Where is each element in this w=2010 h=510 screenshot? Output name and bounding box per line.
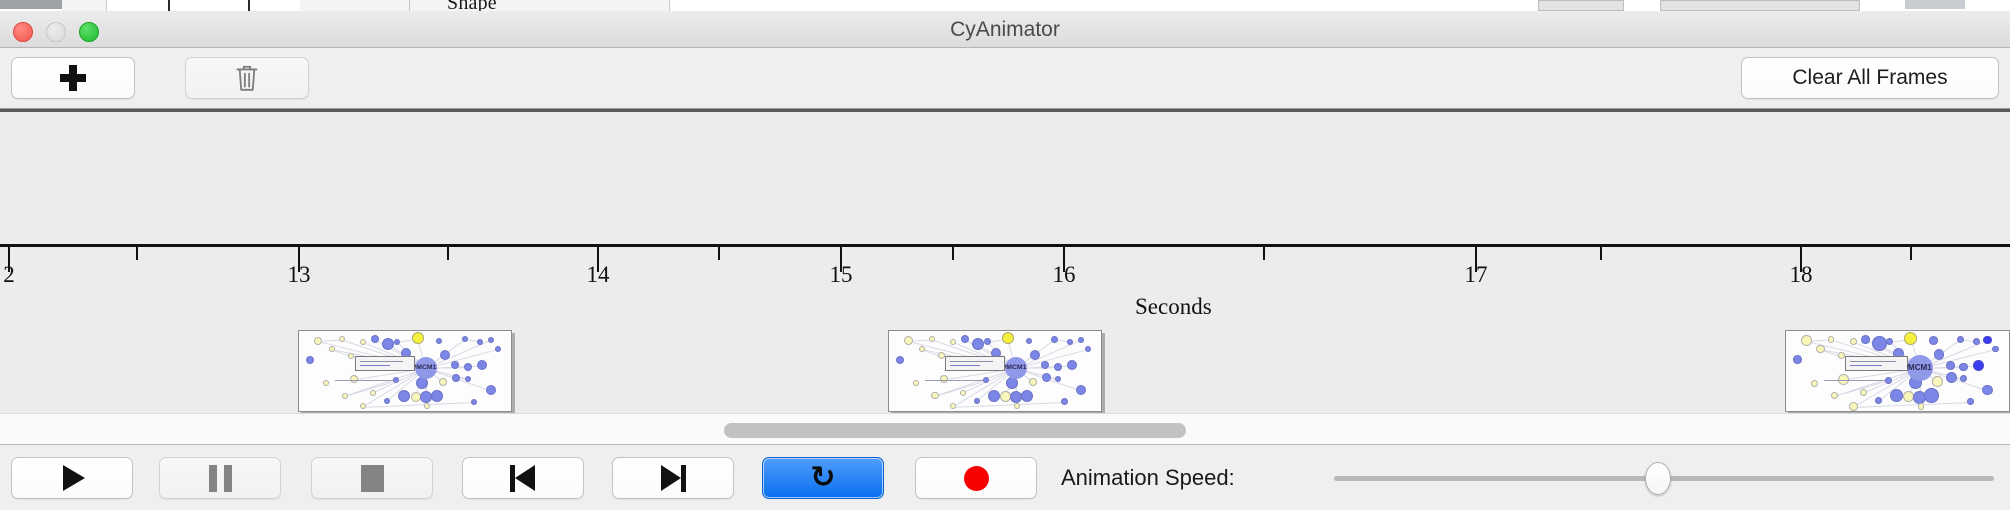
- network-node: [1932, 376, 1943, 387]
- network-thumbnail-image: MCM1: [299, 331, 511, 411]
- network-node: [398, 390, 410, 402]
- network-node: [1838, 352, 1845, 359]
- network-node: [412, 332, 424, 344]
- network-node: [1959, 363, 1968, 372]
- network-node: [1946, 361, 1955, 370]
- axis-tick-label: 2: [0, 262, 44, 288]
- pause-button[interactable]: [159, 457, 281, 499]
- network-node: [1875, 397, 1882, 404]
- network-node: [1960, 375, 1967, 382]
- network-node: [1967, 398, 1974, 405]
- network-node: [1924, 388, 1939, 403]
- network-node: [1872, 336, 1887, 351]
- axis-tick-label: 17: [1441, 262, 1511, 288]
- network-node: [1061, 398, 1068, 405]
- network-thumbnail-image: MCM1: [1786, 331, 2009, 411]
- network-node: [1067, 339, 1073, 345]
- axis-tick-minor: [1910, 246, 1912, 260]
- record-button[interactable]: [915, 457, 1037, 499]
- axis-line: [0, 244, 2010, 247]
- network-node: [495, 346, 501, 352]
- title-bar: CyAnimator: [0, 11, 2010, 48]
- network-node: [1793, 355, 1802, 364]
- network-node: [1002, 332, 1014, 344]
- clear-all-frames-button[interactable]: Clear All Frames: [1741, 57, 1999, 99]
- network-node: [1992, 346, 1999, 353]
- network-node: [1026, 338, 1032, 344]
- network-node: [1850, 338, 1857, 345]
- network-node: [1014, 403, 1020, 409]
- axis-title: Seconds: [1135, 294, 1212, 320]
- network-node: [471, 399, 477, 405]
- timeline-frame-thumbnail[interactable]: MCM1: [888, 330, 1102, 412]
- delete-frame-button[interactable]: [185, 57, 309, 99]
- network-node: [1929, 336, 1938, 345]
- network-node: [1831, 392, 1838, 399]
- loop-button[interactable]: ↻: [762, 457, 884, 499]
- network-node: [306, 356, 314, 364]
- network-node: [348, 353, 354, 359]
- axis-tick-minor: [1263, 246, 1265, 260]
- pause-icon: [209, 465, 232, 492]
- network-node: [464, 363, 472, 371]
- network-node: [1051, 336, 1058, 343]
- network-node: [1055, 376, 1061, 382]
- network-node: [983, 377, 989, 383]
- axis-tick-label: 14: [563, 262, 633, 288]
- network-node: [382, 338, 394, 350]
- network-node: [1973, 338, 1980, 345]
- play-icon: [63, 465, 85, 491]
- network-node: [913, 380, 919, 386]
- network-node: [370, 390, 376, 396]
- background-window-strip: Shape: [0, 0, 2010, 11]
- network-node: [1816, 345, 1825, 354]
- network-node: [1983, 336, 1992, 345]
- network-tooltip-box: [945, 356, 1005, 372]
- skip-back-button[interactable]: [462, 457, 584, 499]
- network-node: [1085, 346, 1091, 352]
- network-node: [896, 356, 904, 364]
- skip-forward-button[interactable]: [612, 457, 734, 499]
- network-node: [477, 339, 483, 345]
- network-tooltip-box: [1845, 356, 1908, 372]
- network-node: [1861, 335, 1870, 344]
- network-node: [424, 403, 430, 409]
- trash-icon: [234, 63, 260, 93]
- network-node: [314, 337, 322, 345]
- network-node: [1828, 336, 1835, 343]
- network-node: [431, 390, 443, 402]
- network-node: [462, 336, 468, 342]
- playback-controls: ↻ Animation Speed:: [0, 446, 2010, 510]
- timeline-scrollbar[interactable]: [0, 413, 2010, 445]
- stop-button[interactable]: [311, 457, 433, 499]
- network-node: [439, 378, 447, 386]
- axis-tick-minor: [718, 246, 720, 260]
- network-node: [1957, 336, 1964, 343]
- network-node: [1886, 338, 1893, 345]
- network-node: [904, 336, 913, 345]
- skip-back-icon: [510, 465, 536, 492]
- network-node: [360, 403, 366, 409]
- network-node: [1078, 337, 1084, 343]
- network-node: [1021, 390, 1033, 402]
- network-node: [1042, 373, 1051, 382]
- animation-speed-slider[interactable]: [1334, 457, 1994, 499]
- network-node: [1801, 335, 1812, 346]
- network-node: [1054, 363, 1062, 371]
- axis-tick-label: 15: [806, 262, 876, 288]
- network-node: [1903, 391, 1914, 402]
- network-node: [488, 337, 494, 343]
- timeline-panel[interactable]: MCM1MCM1MCM1 2131415161718 Seconds: [0, 112, 2010, 413]
- background-shape-label: Shape: [447, 0, 497, 11]
- frame-toolbar: Clear All Frames: [0, 48, 2010, 108]
- network-node: [323, 380, 329, 386]
- network-node: [960, 390, 966, 396]
- network-node: [452, 374, 460, 382]
- scrollbar-thumb[interactable]: [724, 423, 1186, 438]
- network-node: [1067, 360, 1077, 370]
- network-node: [950, 403, 956, 409]
- axis-tick-minor: [447, 246, 449, 260]
- network-node: [1030, 350, 1040, 360]
- loop-icon: ↻: [810, 463, 835, 493]
- axis-tick-minor: [136, 246, 138, 260]
- network-node: [1904, 332, 1917, 345]
- add-frame-button[interactable]: [11, 57, 135, 99]
- network-node: [1860, 389, 1867, 396]
- network-node: [972, 338, 984, 350]
- network-node: [1946, 372, 1957, 383]
- network-thumbnail-image: MCM1: [889, 331, 1101, 411]
- network-node: [1885, 377, 1892, 384]
- network-node: [1076, 385, 1086, 395]
- play-button[interactable]: [11, 457, 133, 499]
- network-node: [436, 338, 442, 344]
- window-title: CyAnimator: [0, 11, 2010, 48]
- axis-tick-label: 16: [1029, 262, 1099, 288]
- network-node: [1890, 389, 1903, 402]
- plus-icon: [60, 65, 86, 91]
- axis-tick-minor: [1600, 246, 1602, 260]
- network-node: [950, 339, 956, 345]
- network-node: [477, 360, 487, 370]
- network-node: [931, 392, 938, 399]
- network-node: [1982, 385, 1993, 396]
- network-node: [342, 393, 348, 399]
- network-node: [486, 385, 496, 395]
- network-tooltip-box: [355, 356, 415, 372]
- network-node: [465, 376, 471, 382]
- network-node: [440, 350, 450, 360]
- network-node: [1849, 402, 1858, 411]
- network-node: [974, 398, 980, 404]
- network-node: [1811, 380, 1818, 387]
- record-icon: [964, 466, 989, 491]
- network-node: [1918, 403, 1925, 410]
- network-node: [360, 339, 366, 345]
- network-hub-node: MCM1: [1907, 355, 1933, 381]
- network-node: [411, 392, 421, 402]
- network-node: [339, 336, 345, 342]
- network-node: [988, 390, 1000, 402]
- timeline-frame-thumbnail[interactable]: MCM1: [1785, 330, 2010, 412]
- axis-tick-label: 13: [264, 262, 334, 288]
- timeline-frame-thumbnail[interactable]: MCM1: [298, 330, 512, 412]
- network-node: [384, 398, 390, 404]
- animation-speed-label: Animation Speed:: [1061, 457, 1235, 499]
- slider-thumb[interactable]: [1645, 462, 1671, 495]
- axis-tick-label: 18: [1766, 262, 1836, 288]
- network-node: [929, 336, 935, 342]
- stop-icon: [361, 465, 384, 492]
- skip-forward-icon: [660, 465, 686, 492]
- network-node: [1973, 360, 1984, 371]
- cyanimator-window: Shape CyAnimator Clear All Frames MCM1MC…: [0, 0, 2010, 510]
- network-node: [393, 377, 399, 383]
- axis-tick-minor: [952, 246, 954, 260]
- network-node: [1029, 378, 1037, 386]
